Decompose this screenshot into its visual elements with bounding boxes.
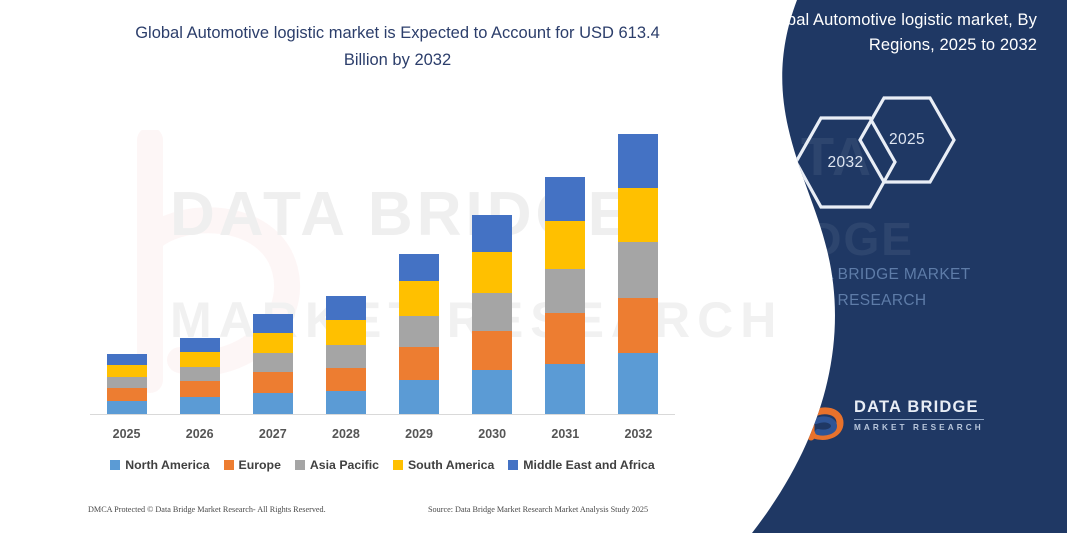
bar-segment: [180, 352, 220, 367]
bar-segment: [326, 320, 366, 345]
legend-swatch-icon: [508, 460, 518, 470]
bar-segment: [399, 281, 439, 315]
data-bridge-logo-icon: [802, 397, 846, 441]
bar-segment: [399, 254, 439, 281]
x-axis-label-2029: 2029: [399, 427, 439, 441]
bar-column-2031: [545, 110, 585, 414]
bar-segment: [253, 333, 293, 353]
infographic-canvas: DATA BRIDGE MARKET RESEARCH Global Autom…: [0, 0, 1067, 533]
bar-segment: [326, 345, 366, 368]
hexagon-badges: 2032 2025: [697, 95, 1067, 210]
bar-segment: [253, 393, 293, 414]
bar-segment: [618, 242, 658, 297]
bar-segment: [618, 188, 658, 242]
x-axis-labels: 20252026202720282029203020312032: [90, 423, 675, 445]
bar-segment: [472, 293, 512, 331]
bar-segment: [545, 313, 585, 364]
logo-subtitle: MARKET RESEARCH: [854, 423, 984, 432]
bar-segment: [545, 177, 585, 221]
legend-swatch-icon: [110, 460, 120, 470]
chart-plot-area: [90, 110, 675, 415]
bar-segment: [545, 364, 585, 414]
legend-label: North America: [125, 458, 209, 472]
panel-brand-text: DATA BRIDGE MARKET RESEARCH: [737, 262, 1027, 314]
x-axis-label-2025: 2025: [107, 427, 147, 441]
x-axis-line: [90, 414, 675, 415]
bar-segment: [618, 134, 658, 188]
panel-title: Global Automotive logistic market, By Re…: [707, 8, 1037, 58]
bar-column-2025: [107, 110, 147, 414]
x-axis-label-2032: 2032: [618, 427, 658, 441]
bar-segment: [326, 296, 366, 320]
bar-segment: [399, 347, 439, 380]
bar-column-2032: [618, 110, 658, 414]
chart-legend: North AmericaEuropeAsia PacificSouth Ame…: [90, 455, 675, 475]
bar-column-2029: [399, 110, 439, 414]
bar-segment: [472, 215, 512, 252]
legend-item[interactable]: Europe: [224, 458, 281, 472]
footer: DMCA Protected © Data Bridge Market Rese…: [0, 505, 700, 525]
bar-segment: [107, 401, 147, 414]
bar-segment: [253, 353, 293, 372]
x-axis-label-2031: 2031: [545, 427, 585, 441]
bar-segment: [545, 269, 585, 313]
legend-swatch-icon: [393, 460, 403, 470]
bar-column-2027: [253, 110, 293, 414]
legend-label: Europe: [239, 458, 281, 472]
bar-segment: [618, 298, 658, 353]
right-panel: DATA BRIDGE Global Automotive logistic m…: [697, 0, 1067, 533]
bar-segment: [472, 331, 512, 370]
stacked-bar-group: [90, 110, 675, 414]
hexagon-label-2025: 2025: [857, 95, 957, 185]
bar-segment: [399, 316, 439, 347]
bar-column-2028: [326, 110, 366, 414]
chart-title: Global Automotive logistic market is Exp…: [120, 20, 675, 74]
bar-segment: [180, 338, 220, 352]
legend-item[interactable]: Asia Pacific: [295, 458, 379, 472]
bar-column-2026: [180, 110, 220, 414]
bar-segment: [472, 370, 512, 414]
bar-segment: [253, 372, 293, 393]
bar-column-2030: [472, 110, 512, 414]
x-axis-label-2030: 2030: [472, 427, 512, 441]
bar-segment: [107, 365, 147, 377]
bar-segment: [107, 354, 147, 365]
bar-segment: [107, 377, 147, 388]
legend-swatch-icon: [295, 460, 305, 470]
bar-segment: [180, 367, 220, 381]
logo-title: DATA BRIDGE: [854, 398, 984, 420]
panel-brand-line-1: DATA BRIDGE MARKET: [737, 262, 1027, 288]
bar-segment: [180, 381, 220, 397]
footer-copyright: DMCA Protected © Data Bridge Market Rese…: [88, 505, 326, 514]
hexagon-badge-2025: 2025: [857, 95, 957, 185]
x-axis-label-2027: 2027: [253, 427, 293, 441]
legend-label: Middle East and Africa: [523, 458, 654, 472]
footer-source: Source: Data Bridge Market Research Mark…: [428, 505, 648, 514]
x-axis-label-2026: 2026: [180, 427, 220, 441]
x-axis-label-2028: 2028: [326, 427, 366, 441]
legend-swatch-icon: [224, 460, 234, 470]
bar-segment: [253, 314, 293, 333]
svg-text:BRIDGE: BRIDGE: [723, 213, 914, 265]
bar-segment: [107, 388, 147, 401]
bar-segment: [326, 368, 366, 391]
legend-item[interactable]: Middle East and Africa: [508, 458, 654, 472]
company-logo: DATA BRIDGE MARKET RESEARCH: [802, 395, 1032, 443]
panel-brand-line-2: RESEARCH: [737, 288, 1027, 314]
legend-item[interactable]: South America: [393, 458, 494, 472]
bar-segment: [326, 391, 366, 414]
bar-segment: [545, 221, 585, 269]
legend-label: South America: [408, 458, 494, 472]
bar-segment: [180, 397, 220, 414]
legend-item[interactable]: North America: [110, 458, 209, 472]
bar-segment: [618, 353, 658, 414]
bar-segment: [472, 252, 512, 293]
logo-text: DATA BRIDGE MARKET RESEARCH: [854, 398, 984, 432]
legend-label: Asia Pacific: [310, 458, 379, 472]
bar-segment: [399, 380, 439, 414]
